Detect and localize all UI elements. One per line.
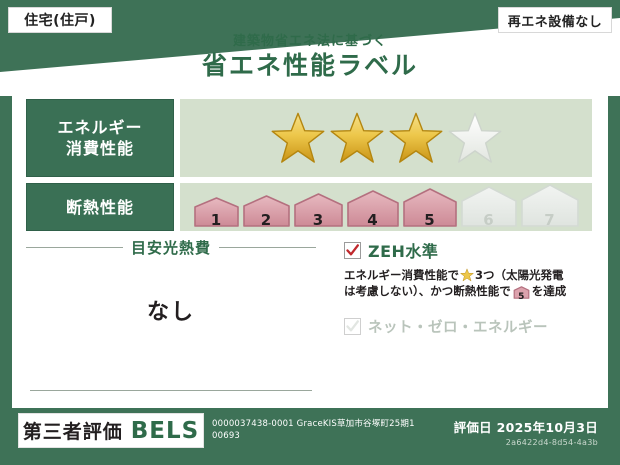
insulation-level-7: 7 [520,184,580,231]
utility-cost-title: 目安光熱費 [123,237,219,258]
label-subtitle: 建築物省エネ法に基づく [0,34,620,50]
content-card: エネルギー 消費性能 [12,86,608,453]
net-zero-energy-row: ネット・ゼロ・エネルギー [344,316,594,337]
zeh-desc-part3: を達成 [532,284,567,298]
label-title: 省エネ性能ラベル [0,51,620,81]
zeh-block: ZEH水準 エネルギー消費性能で3つ（太陽光発電 は考慮しない）、かつ断熱性能で… [344,238,594,337]
insulation-level-3: 3 [293,193,344,231]
zeh-check-row: ZEH水準 [344,238,594,262]
star-icon-filled-1 [270,111,326,165]
bels-jp-text: 第三者評価 [23,417,123,444]
renewable-equipment-tag: 再エネ設備なし [498,7,612,33]
bels-energy-label: 住宅(住戸) 再エネ設備なし 建築物省エネ法に基づく 省エネ性能ラベル エネルギ… [0,0,620,465]
footer-bar: 第三者評価 BELS 0000037438-0001 GraceKIS草加市谷塚… [12,408,608,453]
star-icon-filled-3 [388,111,444,165]
insulation-level-5: 5 [402,188,458,231]
energy-performance-label: エネルギー 消費性能 [26,99,174,177]
check-icon-disabled [345,319,360,334]
insulation-level-4-number: 4 [346,213,400,228]
insulation-label-line1: 断熱性能 [66,197,134,218]
rule-left [26,247,123,248]
energy-performance-row: エネルギー 消費性能 [26,99,592,177]
building-type-tag: 住宅(住戸) [8,7,112,33]
evaluation-date: 評価日 2025年10月3日 [430,417,598,436]
insulation-performance-label: 断熱性能 [26,183,174,231]
zeh-title: ZEH水準 [368,238,438,262]
inline-star-icon [460,268,474,282]
rule-right [219,247,316,248]
insulation-level-5-number: 5 [402,213,458,228]
insulation-performance-value: 1 2 3 [180,183,592,231]
insulation-level-6-number: 6 [460,213,518,228]
zeh-desc-star-count: 3つ（太陽光発電 [475,268,564,282]
inline-house-number: 5 [513,293,530,302]
registration-id-line2: 00693 [212,430,430,442]
registration-id-line1: 0000037438-0001 GraceKIS草加市谷塚町25期1 [212,418,430,430]
insulation-level-7-number: 7 [520,213,580,228]
bels-badge: 第三者評価 BELS [18,413,204,448]
zeh-desc-part1: エネルギー消費性能で [344,268,459,282]
net-zero-energy-title: ネット・ゼロ・エネルギー [368,316,548,337]
zeh-description: エネルギー消費性能で3つ（太陽光発電 は考慮しない）、かつ断熱性能で 5を達成 [344,267,594,303]
evaluation-hash: 2a6422d4-8d54-4a3b [430,438,598,447]
registration-id-block: 0000037438-0001 GraceKIS草加市谷塚町25期1 00693 [204,408,430,453]
utility-cost-bottom-rule [30,390,312,391]
insulation-level-6: 6 [460,186,518,231]
inline-house-badge: 5 [513,286,530,303]
utility-cost-heading-row: 目安光熱費 [26,238,316,256]
insulation-performance-row: 断熱性能 [26,183,592,231]
zeh-checkbox[interactable] [344,242,361,259]
insulation-level-1: 1 [193,197,240,231]
check-icon [345,243,360,258]
star-icon-empty-4 [447,111,503,165]
insulation-level-1-number: 1 [193,213,240,228]
energy-label-line1: エネルギー [57,117,142,138]
insulation-level-3-number: 3 [293,213,344,228]
energy-label-line2: 消費性能 [66,138,134,159]
label-title-group: 建築物省エネ法に基づく 省エネ性能ラベル [0,34,620,81]
zeh-desc-part2: は考慮しない）、かつ断熱性能で [344,284,511,298]
bels-en-text: BELS [131,418,199,444]
net-zero-energy-checkbox[interactable] [344,318,361,335]
utility-cost-value: なし [26,294,316,326]
insulation-level-2-number: 2 [242,213,291,228]
evaluation-info-block: 評価日 2025年10月3日 2a6422d4-8d54-4a3b [430,408,608,453]
energy-performance-value [180,99,592,177]
insulation-level-2: 2 [242,195,291,231]
star-icon-filled-2 [329,111,385,165]
star-rating [270,111,503,165]
insulation-level-4: 4 [346,190,400,231]
insulation-level-scale: 1 2 3 [191,184,582,231]
